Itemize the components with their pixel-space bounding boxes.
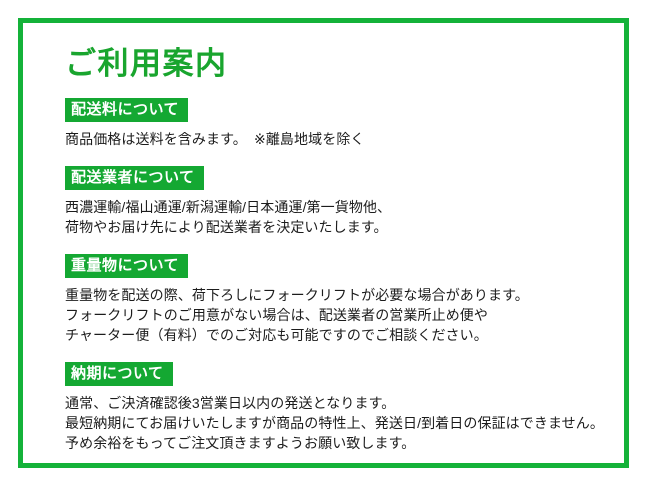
guide-content: ご利用案内 配送料について 商品価格は送料を含みます。 ※離島地域を除く 配送業… — [65, 47, 614, 453]
body-line: 予め余裕をもってご注文頂きますようお願い致します。 — [65, 433, 614, 453]
section-header-badge: 重量物について — [65, 254, 188, 278]
body-line: 西濃運輸/福山通運/新潟運輸/日本通運/第一貨物他、 — [65, 197, 614, 217]
section-body: 重量物を配送の際、荷下ろしにフォークリフトが必要な場合があります。 フォークリフ… — [65, 285, 614, 345]
body-line: 重量物を配送の際、荷下ろしにフォークリフトが必要な場合があります。 — [65, 285, 614, 305]
section-header-badge: 配送業者について — [65, 166, 204, 190]
body-line: 最短納期にてお届けいたしますが商品の特性上、発送日/到着日の保証はできません。 — [65, 413, 614, 433]
section-body: 西濃運輸/福山通運/新潟運輸/日本通運/第一貨物他、 荷物やお届け先により配送業… — [65, 197, 614, 237]
section-delivery-time: 納期について 通常、ご決済確認後3営業日以内の発送となります。 最短納期にてお届… — [65, 362, 614, 453]
section-shipping-fee: 配送料について 商品価格は送料を含みます。 ※離島地域を除く — [65, 98, 614, 149]
section-heavy-items: 重量物について 重量物を配送の際、荷下ろしにフォークリフトが必要な場合があります… — [65, 254, 614, 345]
guide-frame: ご利用案内 配送料について 商品価格は送料を含みます。 ※離島地域を除く 配送業… — [18, 18, 629, 468]
body-line: チャーター便（有料）でのご対応も可能ですのでご相談ください。 — [65, 325, 614, 345]
section-header-badge: 配送料について — [65, 98, 188, 122]
page-title: ご利用案内 — [65, 47, 614, 81]
section-body: 商品価格は送料を含みます。 ※離島地域を除く — [65, 129, 614, 149]
body-line: 商品価格は送料を含みます。 ※離島地域を除く — [65, 129, 614, 149]
body-line: 荷物やお届け先により配送業者を決定いたします。 — [65, 217, 614, 237]
body-line: 通常、ご決済確認後3営業日以内の発送となります。 — [65, 393, 614, 413]
section-carriers: 配送業者について 西濃運輸/福山通運/新潟運輸/日本通運/第一貨物他、 荷物やお… — [65, 166, 614, 237]
section-body: 通常、ご決済確認後3営業日以内の発送となります。 最短納期にてお届けいたしますが… — [65, 393, 614, 453]
body-line: フォークリフトのご用意がない場合は、配送業者の営業所止め便や — [65, 305, 614, 325]
section-header-badge: 納期について — [65, 362, 173, 386]
